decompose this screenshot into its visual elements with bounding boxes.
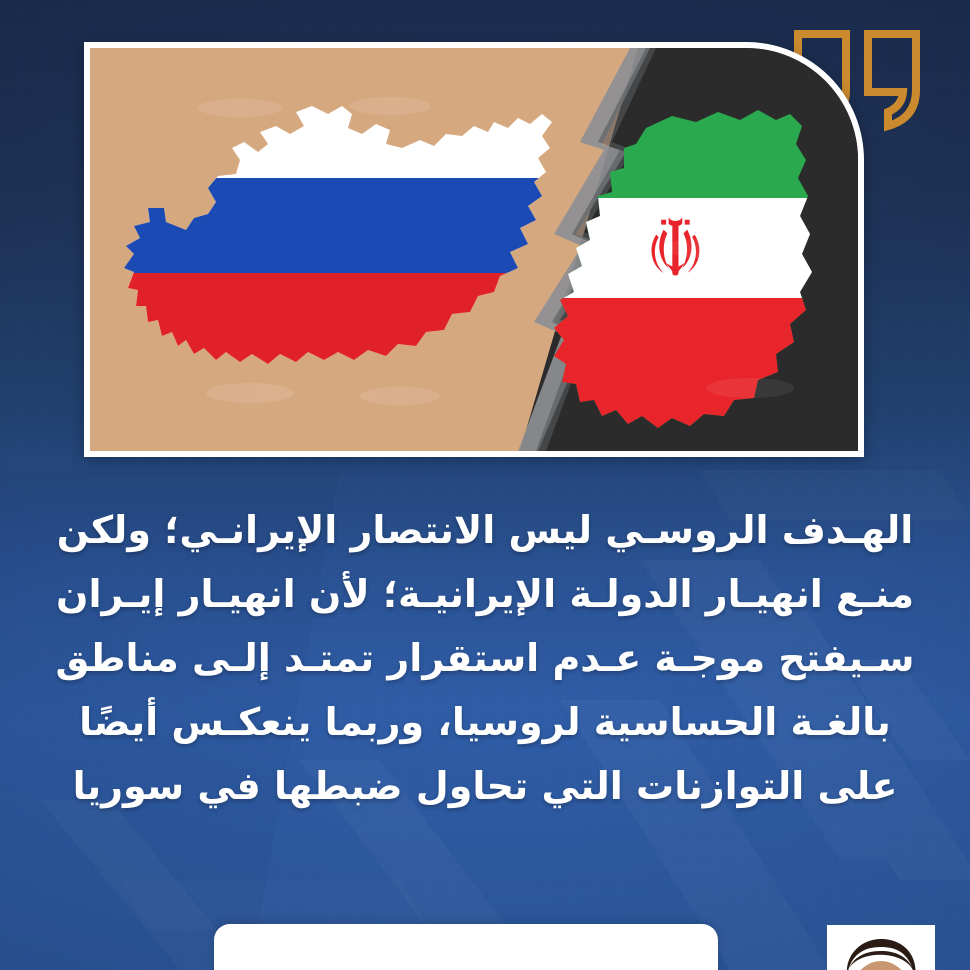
- quote-line: على التوازنات التي تحاول ضبطها في سوريا: [32, 754, 938, 818]
- quote-card-canvas: الهـدف الروسـي ليس الانتصار الإيرانـي؛ و…: [0, 0, 970, 970]
- quote-line: الهـدف الروسـي ليس الانتصار الإيرانـي؛ و…: [32, 498, 938, 562]
- quote-line: سـيفتح موجـة عـدم استقرار تمتـد إلـى منا…: [32, 626, 938, 690]
- hero-image-card: [84, 42, 864, 457]
- author-portrait: [827, 925, 935, 970]
- quote-line: منـع انهيـار الدولـة الإيرانيـة؛ لأن انه…: [32, 562, 938, 626]
- footer-plate: [214, 924, 718, 970]
- quote-line: بالغـة الحساسية لروسيا، وربما ينعكـس أيض…: [32, 690, 938, 754]
- quote-text: الهـدف الروسـي ليس الانتصار الإيرانـي؛ و…: [32, 498, 938, 818]
- russia-iran-flag-maps-image: [90, 48, 858, 451]
